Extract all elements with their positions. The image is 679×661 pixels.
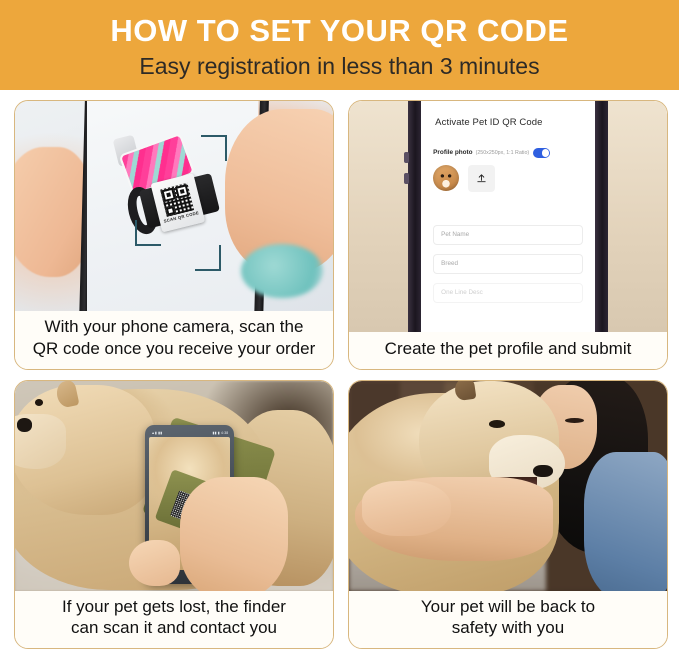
dog-eye: [489, 420, 505, 428]
phone-volume-up-button[interactable]: [404, 152, 409, 164]
step-3-image: ▲▮ ▮▮ ▮▮ ▮ 4:38: [15, 381, 333, 591]
caption-line-1: With your phone camera, scan the: [23, 316, 325, 338]
step-card-2: Activate Pet ID QR Code Profile photo (2…: [348, 100, 668, 370]
caption-line-2: safety with you: [357, 617, 659, 639]
steps-grid: SCAN QR CODE With your phone camera, sca…: [0, 90, 679, 661]
infographic-page: HOW TO SET YOUR QR CODE Easy registratio…: [0, 0, 679, 661]
status-right: ▮▮ ▮ 4:38: [213, 431, 229, 435]
dog-nose: [533, 465, 552, 478]
finder-scan-scene: ▲▮ ▮▮ ▮▮ ▮ 4:38: [15, 381, 333, 591]
step-4-image: [349, 381, 667, 591]
page-subtitle: Easy registration in less than 3 minutes: [139, 54, 539, 79]
status-left: ▲▮ ▮▮: [151, 431, 162, 435]
app-screen: Activate Pet ID QR Code Profile photo (2…: [421, 101, 595, 332]
step-2-image: Activate Pet ID QR Code Profile photo (2…: [349, 101, 667, 332]
step-1-caption: With your phone camera, scan the QR code…: [15, 311, 333, 369]
step-4-caption: Your pet will be back to safety with you: [349, 591, 667, 649]
phone-bezel-left: [408, 101, 421, 332]
app-mockup-scene: Activate Pet ID QR Code Profile photo (2…: [349, 101, 667, 332]
avatar-upload-row: [433, 165, 583, 192]
woman-shirt: [584, 452, 667, 591]
step-card-1: SCAN QR CODE With your phone camera, sca…: [14, 100, 334, 370]
finder-thumb: [129, 540, 180, 586]
caption-line-2: QR code once you receive your order: [23, 338, 325, 360]
dog-nose: [17, 418, 33, 432]
upload-button[interactable]: [468, 165, 495, 192]
phone-status-bar: ▲▮ ▮▮ ▮▮ ▮ 4:38: [148, 430, 231, 436]
reunion-scene: [349, 381, 667, 591]
dog-ear: [54, 381, 79, 409]
avatar: [433, 165, 459, 191]
dog-ear: [454, 381, 476, 402]
background-teal-blur: [241, 244, 324, 299]
breed-input[interactable]: Breed: [433, 254, 583, 274]
app-title: Activate Pet ID QR Code: [435, 117, 583, 128]
step-card-4: Your pet will be back to safety with you: [348, 380, 668, 650]
phone-bezel-right: [595, 101, 608, 332]
page-header: HOW TO SET YOUR QR CODE Easy registratio…: [0, 0, 679, 90]
upload-icon: [476, 173, 487, 184]
phone-volume-down-button[interactable]: [404, 173, 409, 185]
woman-hand: [362, 481, 451, 536]
caption-line-1: Create the pet profile and submit: [357, 338, 659, 360]
scan-bracket-bottom-left: [135, 220, 161, 246]
step-2-caption: Create the pet profile and submit: [349, 332, 667, 369]
caption-line-1: If your pet gets lost, the finder: [23, 596, 325, 618]
caption-line-2: can scan it and contact you: [23, 617, 325, 639]
page-title: HOW TO SET YOUR QR CODE: [110, 15, 568, 48]
scan-bracket-bottom-right: [195, 245, 221, 271]
finder-hand: [180, 477, 288, 590]
scan-photo-scene: SCAN QR CODE: [15, 101, 333, 311]
scan-bracket-top-right: [201, 135, 227, 161]
caption-line-1: Your pet will be back to: [357, 596, 659, 618]
qr-finder-bottom-left: [165, 206, 175, 216]
step-card-3: ▲▮ ▮▮ ▮▮ ▮ 4:38: [14, 380, 334, 650]
profile-photo-label: Profile photo: [433, 149, 472, 156]
step-3-caption: If your pet gets lost, the finder can sc…: [15, 591, 333, 649]
step-1-image: SCAN QR CODE: [15, 101, 333, 311]
pet-name-input[interactable]: Pet Name: [433, 225, 583, 245]
profile-photo-row: Profile photo (250x250px, 1:1 Ratio): [433, 148, 583, 158]
profile-photo-dimensions: (250x250px, 1:1 Ratio): [476, 150, 530, 156]
profile-photo-toggle[interactable]: [533, 148, 550, 158]
one-line-desc-input[interactable]: One Line Desc: [433, 283, 583, 303]
dog-eye: [35, 399, 43, 406]
